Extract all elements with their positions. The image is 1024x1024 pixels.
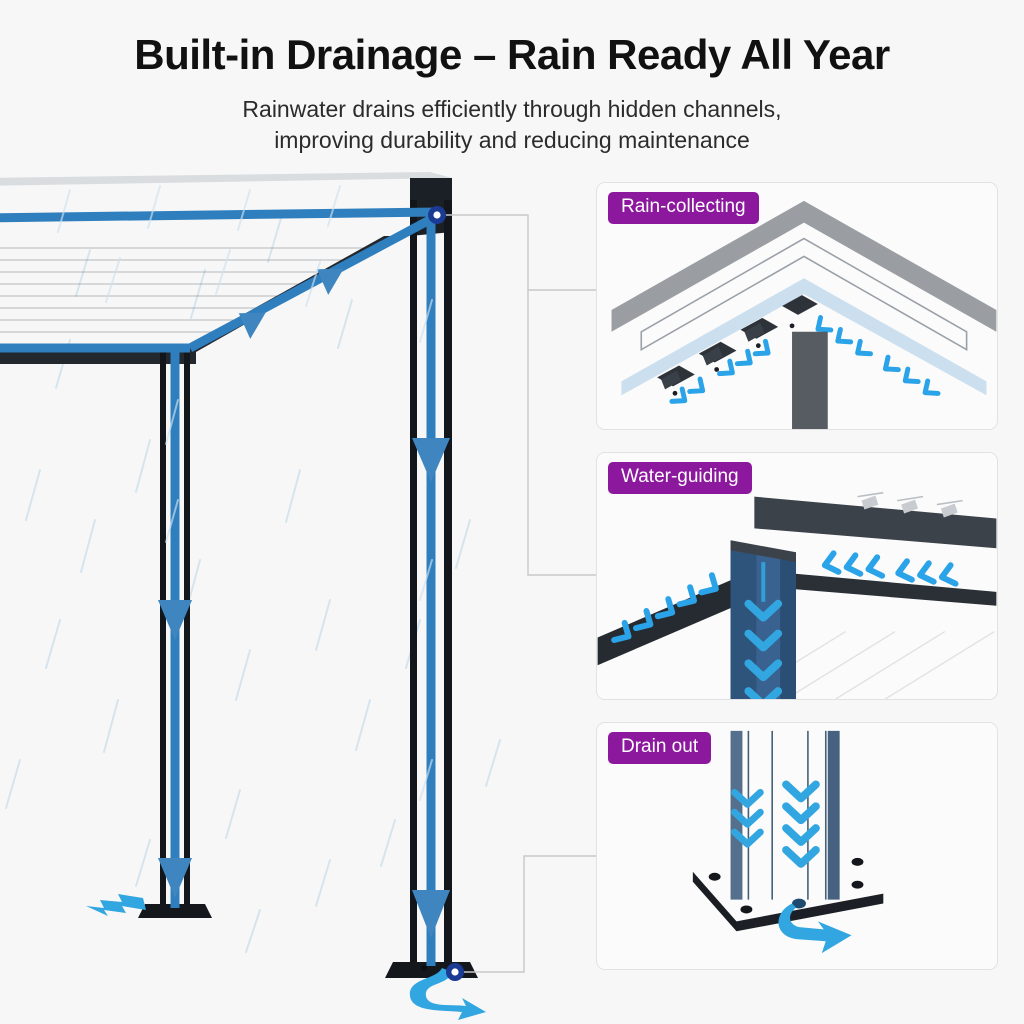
page-subtitle: Rainwater drains efficiently through hid…: [0, 94, 1024, 156]
infographic-canvas: Built-in Drainage – Rain Ready All Year …: [0, 0, 1024, 1024]
badge-water-guiding: Water-guiding: [608, 462, 752, 494]
header-block: Built-in Drainage – Rain Ready All Year …: [0, 0, 1024, 156]
badge-rain-collecting: Rain-collecting: [608, 192, 759, 224]
callout-panel-water-guiding[interactable]: Water-guiding: [596, 452, 998, 700]
subtitle-line-1: Rainwater drains efficiently through hid…: [242, 96, 781, 122]
flow-arrowheads: [158, 258, 450, 938]
ground-shadow: [0, 902, 620, 1000]
page-title: Built-in Drainage – Rain Ready All Year: [0, 34, 1024, 76]
connector-dot-post-base: [446, 963, 464, 981]
callout-panel-rain-collecting[interactable]: Rain-collecting: [596, 182, 998, 430]
connector-dot-roof-corner: [428, 206, 446, 224]
callout-panel-drain-out[interactable]: Drain out: [596, 722, 998, 970]
badge-drain-out: Drain out: [608, 732, 711, 764]
subtitle-line-2: improving durability and reducing mainte…: [0, 125, 1024, 156]
